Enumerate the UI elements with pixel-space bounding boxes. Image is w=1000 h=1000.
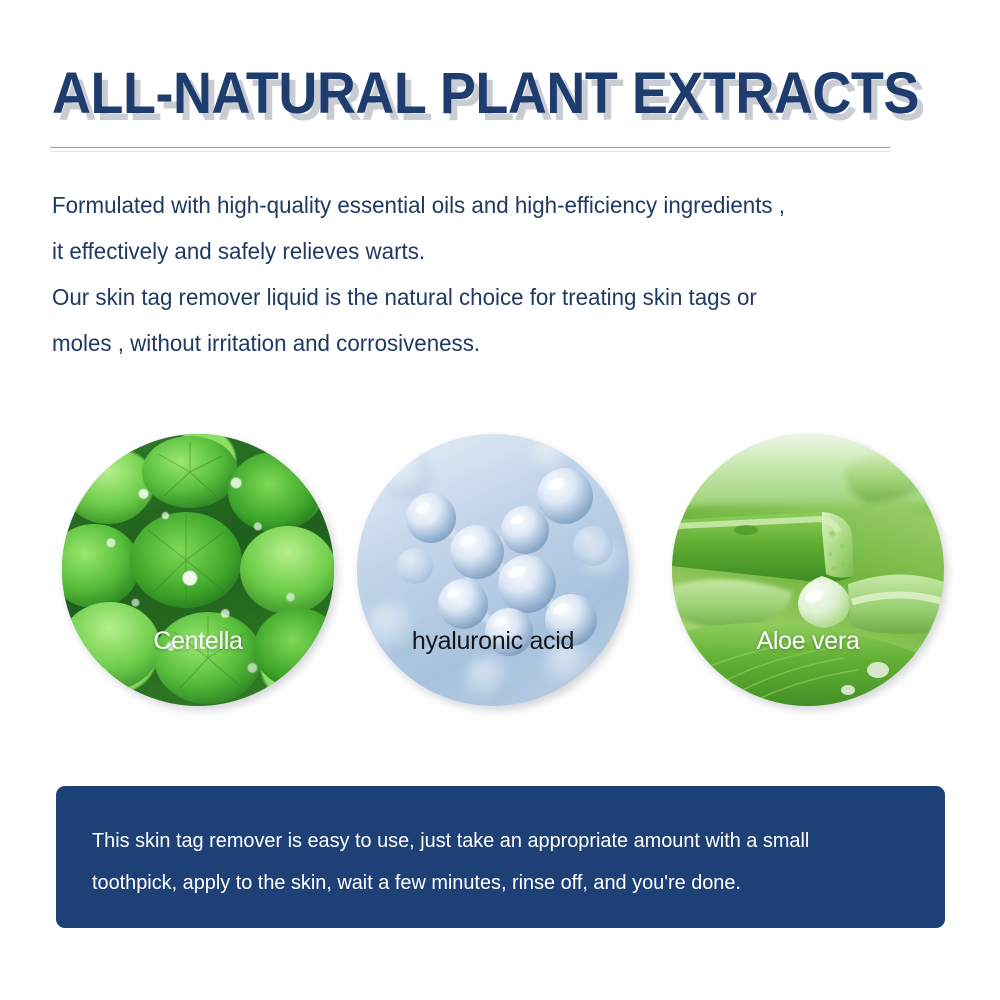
callout-line-2: toothpick, apply to the skin, wait a few… [92, 862, 885, 904]
usage-instructions-text: This skin tag remover is easy to use, ju… [92, 820, 885, 904]
ingredient-circle-hyaluronic-acid: hyaluronic acid [357, 434, 629, 706]
usage-instructions-callout: This skin tag remover is easy to use, ju… [56, 786, 945, 928]
callout-line-1: This skin tag remover is easy to use, ju… [92, 820, 885, 862]
ingredient-label-aloe-vera: Aloe vera [672, 626, 944, 656]
ingredient-circle-centella: Centella [62, 434, 334, 706]
aloe-vera-leaves-photo [672, 434, 944, 706]
ingredient-label-hyaluronic-acid: hyaluronic acid [357, 626, 629, 656]
product-infographic-page: ALL-NATURAL PLANT EXTRACTS ALL-NATURAL P… [0, 0, 1000, 1000]
ingredient-circle-aloe-vera: Aloe vera [672, 434, 944, 706]
ingredient-label-centella: Centella [62, 626, 334, 656]
centella-leaves-photo [62, 434, 334, 706]
hyaluronic-acid-molecule-photo [357, 434, 629, 706]
